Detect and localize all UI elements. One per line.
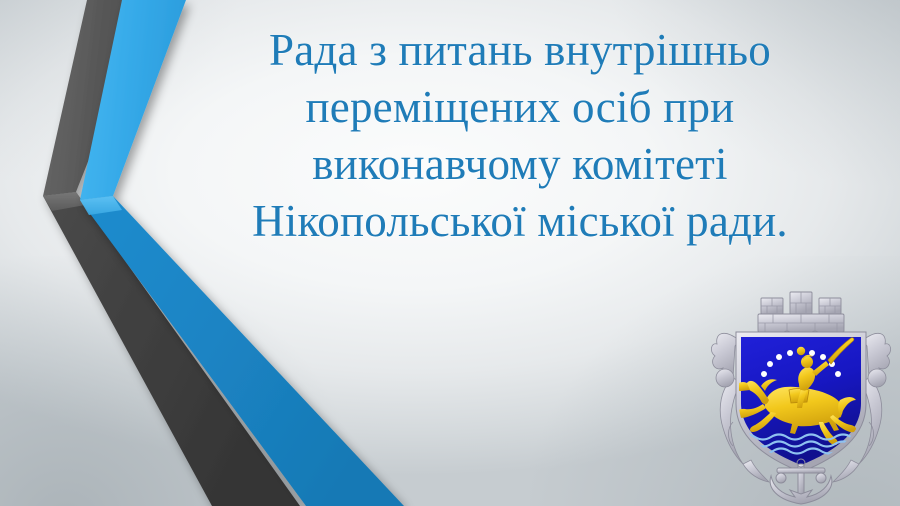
coat-of-arms-svg — [703, 282, 899, 506]
title-line-1: Рада з питань внутрішньо — [150, 22, 890, 79]
slide-canvas: Рада з питань внутрішньо переміщених осі… — [0, 0, 900, 506]
title-line-2: переміщених осіб при — [150, 79, 890, 136]
background-shade-bottom-left — [0, 256, 360, 506]
page-title: Рада з питань внутрішньо переміщених осі… — [150, 22, 890, 250]
anchor-icon — [770, 459, 832, 504]
shield — [736, 332, 867, 476]
title-line-4: Нікопольської міської ради. — [150, 193, 890, 250]
title-line-3: виконавчому комітеті — [150, 136, 890, 193]
coat-of-arms-nikopol — [703, 282, 899, 506]
